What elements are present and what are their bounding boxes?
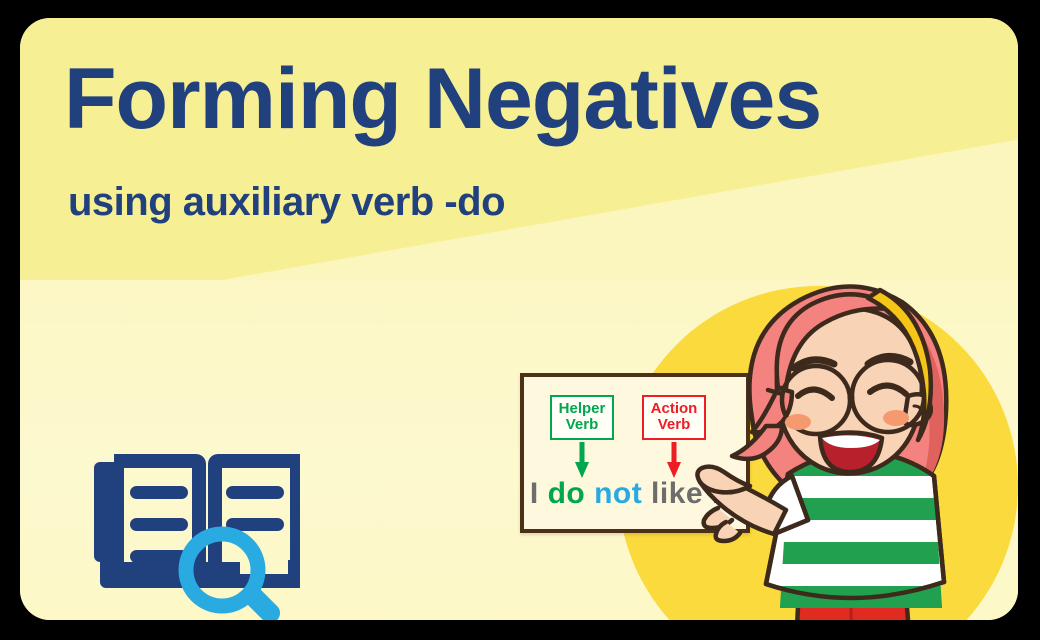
sentence-part-negator: not: [594, 477, 642, 510]
helper-verb-arrow-icon: [574, 442, 590, 480]
label-helper-verb-line1: Helper: [559, 400, 606, 417]
girl-pointing-at-board-illustration: [692, 268, 1018, 620]
open-book-icon: [92, 442, 312, 620]
sentence-part-subject: I: [530, 477, 548, 510]
action-verb-arrow-icon: [666, 442, 682, 480]
label-helper-verb-line2: Verb: [552, 417, 612, 433]
lesson-title-card: Forming Negatives using auxiliary verb -…: [20, 18, 1018, 620]
screenshot-root: Forming Negatives using auxiliary verb -…: [0, 0, 1040, 640]
label-helper-verb: Helper Verb: [550, 395, 614, 440]
page-title: Forming Negatives: [64, 56, 821, 142]
sentence-part-space: [585, 477, 594, 510]
sentence-part-helper-verb: do: [548, 477, 586, 510]
label-action-verb-line1: Action: [651, 400, 698, 417]
page-subtitle: using auxiliary verb -do: [68, 178, 505, 226]
